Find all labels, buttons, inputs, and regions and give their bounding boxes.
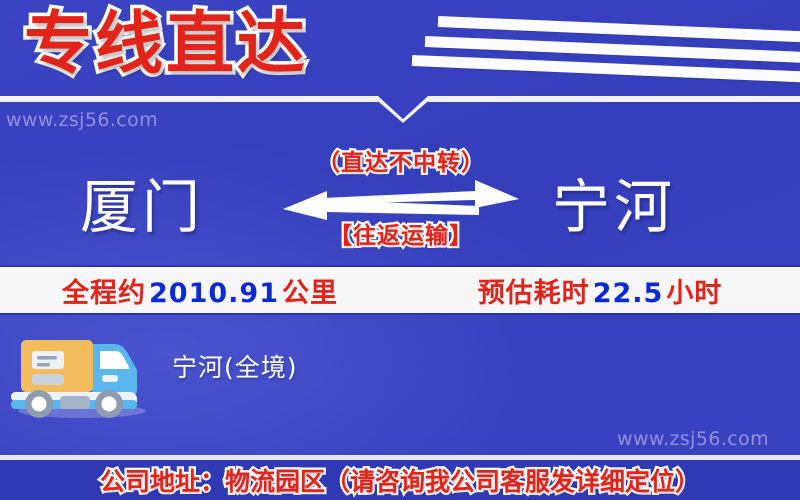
- footer-bar: 公司地址：物流园区（请咨询我公司客服发详细定位）: [0, 460, 800, 500]
- info-band: 全程约2010.91公里 预估耗时22.5小时: [0, 265, 800, 315]
- route-row: 厦门 （直达不中转） 【往返运输】 宁河: [0, 150, 800, 260]
- watermark-top: www.zsj56.com: [6, 109, 158, 131]
- logistics-route-poster: 专线直达 www.zsj56.com www.zsj56.com 厦门 （直达不…: [0, 0, 800, 500]
- tagline-direct: （直达不中转）: [276, 150, 526, 176]
- divider-right-segment: [428, 96, 800, 102]
- route-center-block: （直达不中转） 【往返运输】: [276, 150, 526, 250]
- distance-prefix: 全程约: [62, 278, 146, 309]
- tagline-roundtrip: 【往返运输】: [276, 223, 526, 249]
- page-title: 专线直达: [24, 2, 308, 87]
- bidirectional-arrow-icon: [276, 178, 526, 222]
- duration-info: 预估耗时22.5小时: [400, 271, 800, 310]
- delivery-truck-icon: [8, 318, 156, 422]
- company-address: 公司地址：物流园区（请咨询我公司客服发详细定位）: [100, 462, 700, 498]
- coverage-label: 宁河(全境): [172, 348, 298, 384]
- distance-value: 2010.91: [146, 278, 282, 309]
- duration-unit: 小时: [666, 278, 722, 309]
- distance-unit: 公里: [282, 278, 338, 309]
- chevron-down-icon: [372, 95, 434, 123]
- destination-city: 宁河: [552, 160, 676, 244]
- divider-left-segment: [0, 96, 378, 102]
- duration-prefix: 预估耗时: [478, 278, 590, 309]
- origin-city: 厦门: [80, 160, 204, 244]
- distance-info: 全程约2010.91公里: [0, 271, 400, 310]
- watermark-bottom: www.zsj56.com: [617, 428, 769, 450]
- duration-value: 22.5: [590, 278, 667, 309]
